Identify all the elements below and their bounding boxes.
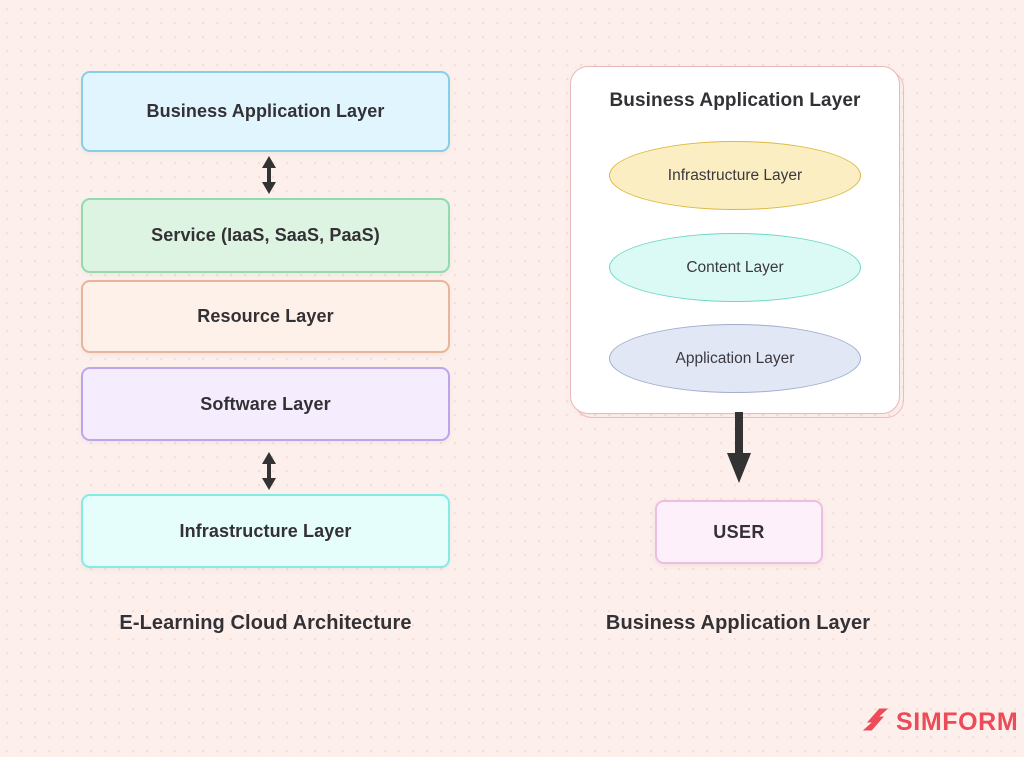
business-application-card: Business Application Layer Infrastructur…: [570, 66, 900, 414]
layer-label: Resource Layer: [197, 306, 333, 327]
ellipse-infrastructure-layer: Infrastructure Layer: [609, 141, 861, 210]
layer-label: Software Layer: [200, 394, 330, 415]
layer-box-infrastructure: Infrastructure Layer: [81, 494, 450, 568]
arrow-card-to-user: [726, 412, 752, 484]
ellipse-label: Content Layer: [686, 259, 783, 277]
simform-arrow-icon: [862, 706, 889, 738]
simform-logo: SIMFORM: [862, 706, 1018, 738]
ellipse-label: Infrastructure Layer: [668, 167, 802, 185]
card-title: Business Application Layer: [571, 90, 899, 112]
layer-box-service: Service (IaaS, SaaS, PaaS): [81, 198, 450, 273]
ellipse-label: Application Layer: [676, 350, 795, 368]
ellipse-content-layer: Content Layer: [609, 233, 861, 302]
ellipse-application-layer: Application Layer: [609, 324, 861, 393]
user-box: USER: [655, 500, 823, 564]
layer-box-business-application: Business Application Layer: [81, 71, 450, 152]
arrow-business-to-service: [258, 155, 280, 195]
layer-label: Business Application Layer: [147, 101, 385, 122]
layer-box-resource: Resource Layer: [81, 280, 450, 353]
user-box-label: USER: [713, 522, 765, 543]
left-panel-caption: E-Learning Cloud Architecture: [81, 612, 450, 635]
layer-label: Service (IaaS, SaaS, PaaS): [151, 225, 380, 246]
arrow-software-to-infrastructure: [258, 451, 280, 491]
right-panel-caption: Business Application Layer: [558, 612, 918, 635]
layer-label: Infrastructure Layer: [179, 521, 351, 542]
simform-logo-text: SIMFORM: [896, 708, 1018, 737]
layer-box-software: Software Layer: [81, 367, 450, 441]
